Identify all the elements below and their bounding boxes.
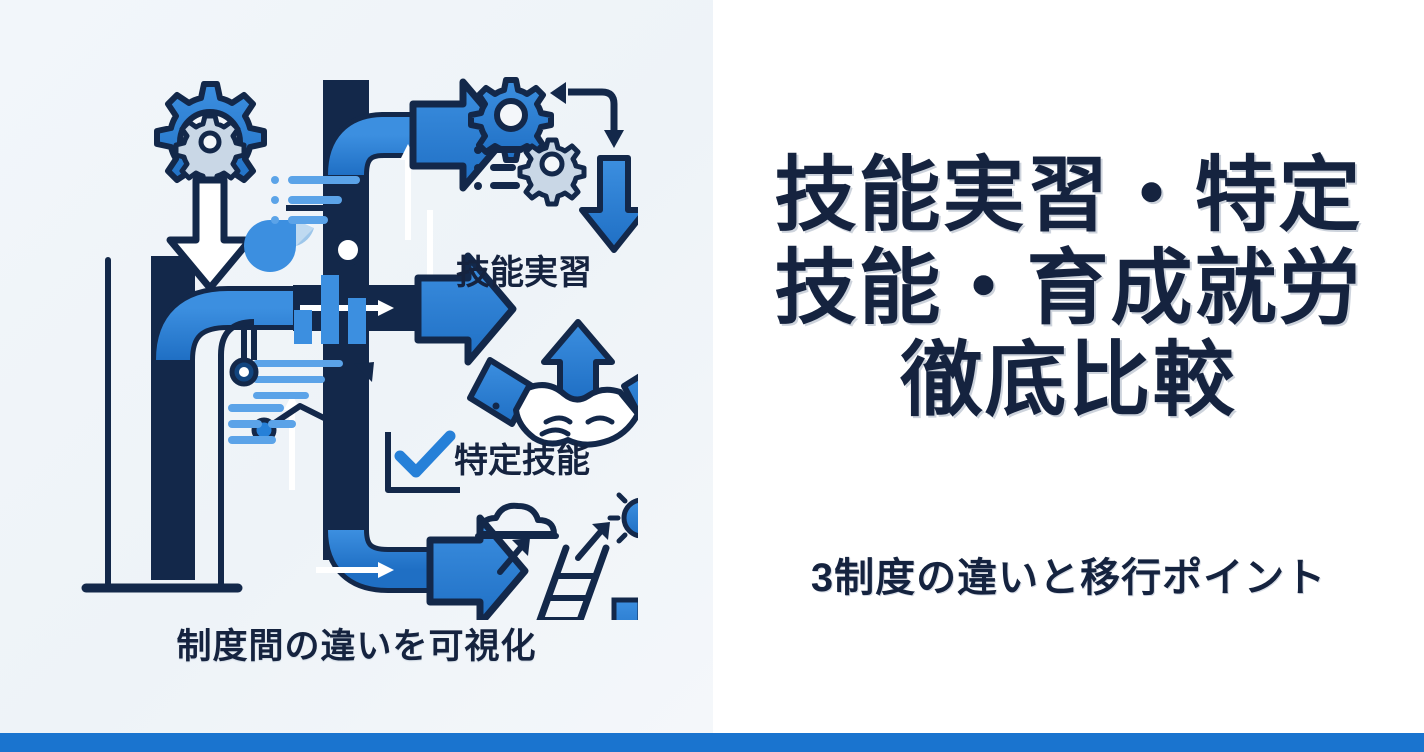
bar-chart-icon bbox=[614, 562, 638, 620]
ladder-icon bbox=[530, 548, 606, 620]
main-title: 技能実習・特定 技能・育成就労 徹底比較 bbox=[713, 150, 1424, 428]
small-gear-icon bbox=[520, 140, 584, 204]
subtitle: 3制度の違いと移行ポイント bbox=[713, 545, 1424, 603]
title-line-2: 技能・育成就労 bbox=[713, 243, 1424, 336]
diagram-label-technical-intern-training: 技能実習 bbox=[456, 254, 592, 292]
bottom-accent-bar bbox=[0, 733, 1424, 752]
cloud-icon bbox=[478, 506, 556, 536]
title-line-3: 徹底比較 bbox=[713, 335, 1424, 428]
process-diagram-illustration: 技能実習 bbox=[78, 60, 638, 620]
title-line-1: 技能実習・特定 bbox=[713, 150, 1424, 243]
left-illustration-panel: 技能実習 bbox=[0, 0, 713, 733]
sun-icon bbox=[610, 486, 638, 550]
small-gear-icon bbox=[176, 116, 244, 184]
gear-icon bbox=[157, 84, 264, 191]
left-caption: 制度間の違いを可視化 bbox=[0, 618, 713, 669]
right-title-panel: 技能実習・特定 技能・育成就労 徹底比較 3制度の違いと移行ポイント bbox=[713, 0, 1424, 733]
handshake-icon bbox=[470, 322, 638, 445]
down-arrow-icon bbox=[582, 158, 638, 250]
diagram-label-specified-skilled-worker: 特定技能 bbox=[454, 442, 590, 480]
pie-chart-icon bbox=[244, 220, 314, 272]
loop-arrow-icon bbox=[550, 82, 624, 148]
checkbox-check-icon bbox=[388, 432, 460, 490]
thumbnail-canvas: 技能実習 bbox=[0, 0, 1424, 752]
